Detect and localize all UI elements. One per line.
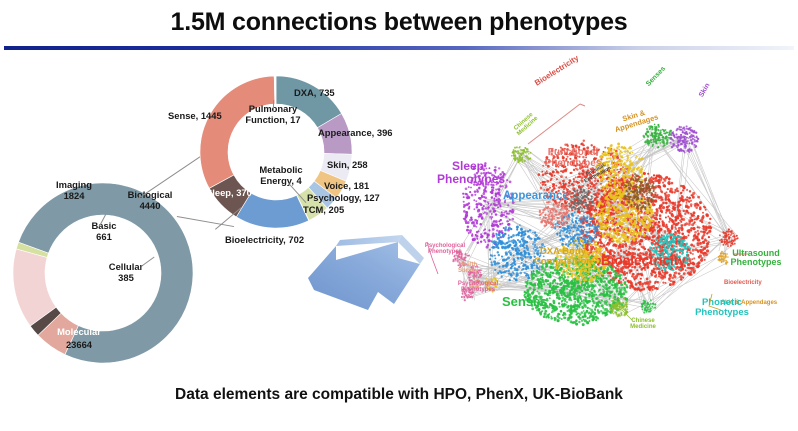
donut-label-sleep: Sleep, 370 <box>206 188 252 199</box>
donut-label-molecular-value: 23664 <box>46 340 112 351</box>
donut-label-imaging: Imaging 1824 <box>42 180 106 201</box>
page-title: 1.5M connections between phenotypes <box>0 8 798 37</box>
donut-label-tcm: TCM, 205 <box>303 205 344 216</box>
donut-label-voice: Voice, 181 <box>324 181 369 192</box>
donut-label-basic: Basic 661 <box>78 221 130 242</box>
donut-label-skin: Skin, 258 <box>327 160 368 171</box>
network-bracket-accents <box>424 62 796 368</box>
donut-label-bioelectricity: Bioelectricity, 702 <box>225 235 304 246</box>
donut-label-psychology: Psychology, 127 <box>307 193 380 204</box>
slide-caption: Data elements are compatible with HPO, P… <box>0 386 798 404</box>
title-underline-rule <box>4 46 794 50</box>
donut-label-sense: Sense, 1445 <box>168 111 222 122</box>
leader-line-pulmonary <box>273 100 274 112</box>
donut-label-metabolic-energy: Metabolic Energy, 4 <box>248 165 314 186</box>
slide-canvas: 1.5M connections between phenotypes Imag… <box>0 0 798 431</box>
donut-label-cellular: Cellular 385 <box>96 262 156 283</box>
donut-slice-pulmonary-function <box>274 76 276 104</box>
right-arrow-icon <box>306 234 428 320</box>
donut-label-dxa: DXA, 735 <box>294 88 335 99</box>
donut-label-biological: Biological 4440 <box>115 190 185 211</box>
donut-label-appearance: Appearance, 396 <box>318 128 393 139</box>
donut-label-molecular-name: Molecular <box>46 327 112 338</box>
